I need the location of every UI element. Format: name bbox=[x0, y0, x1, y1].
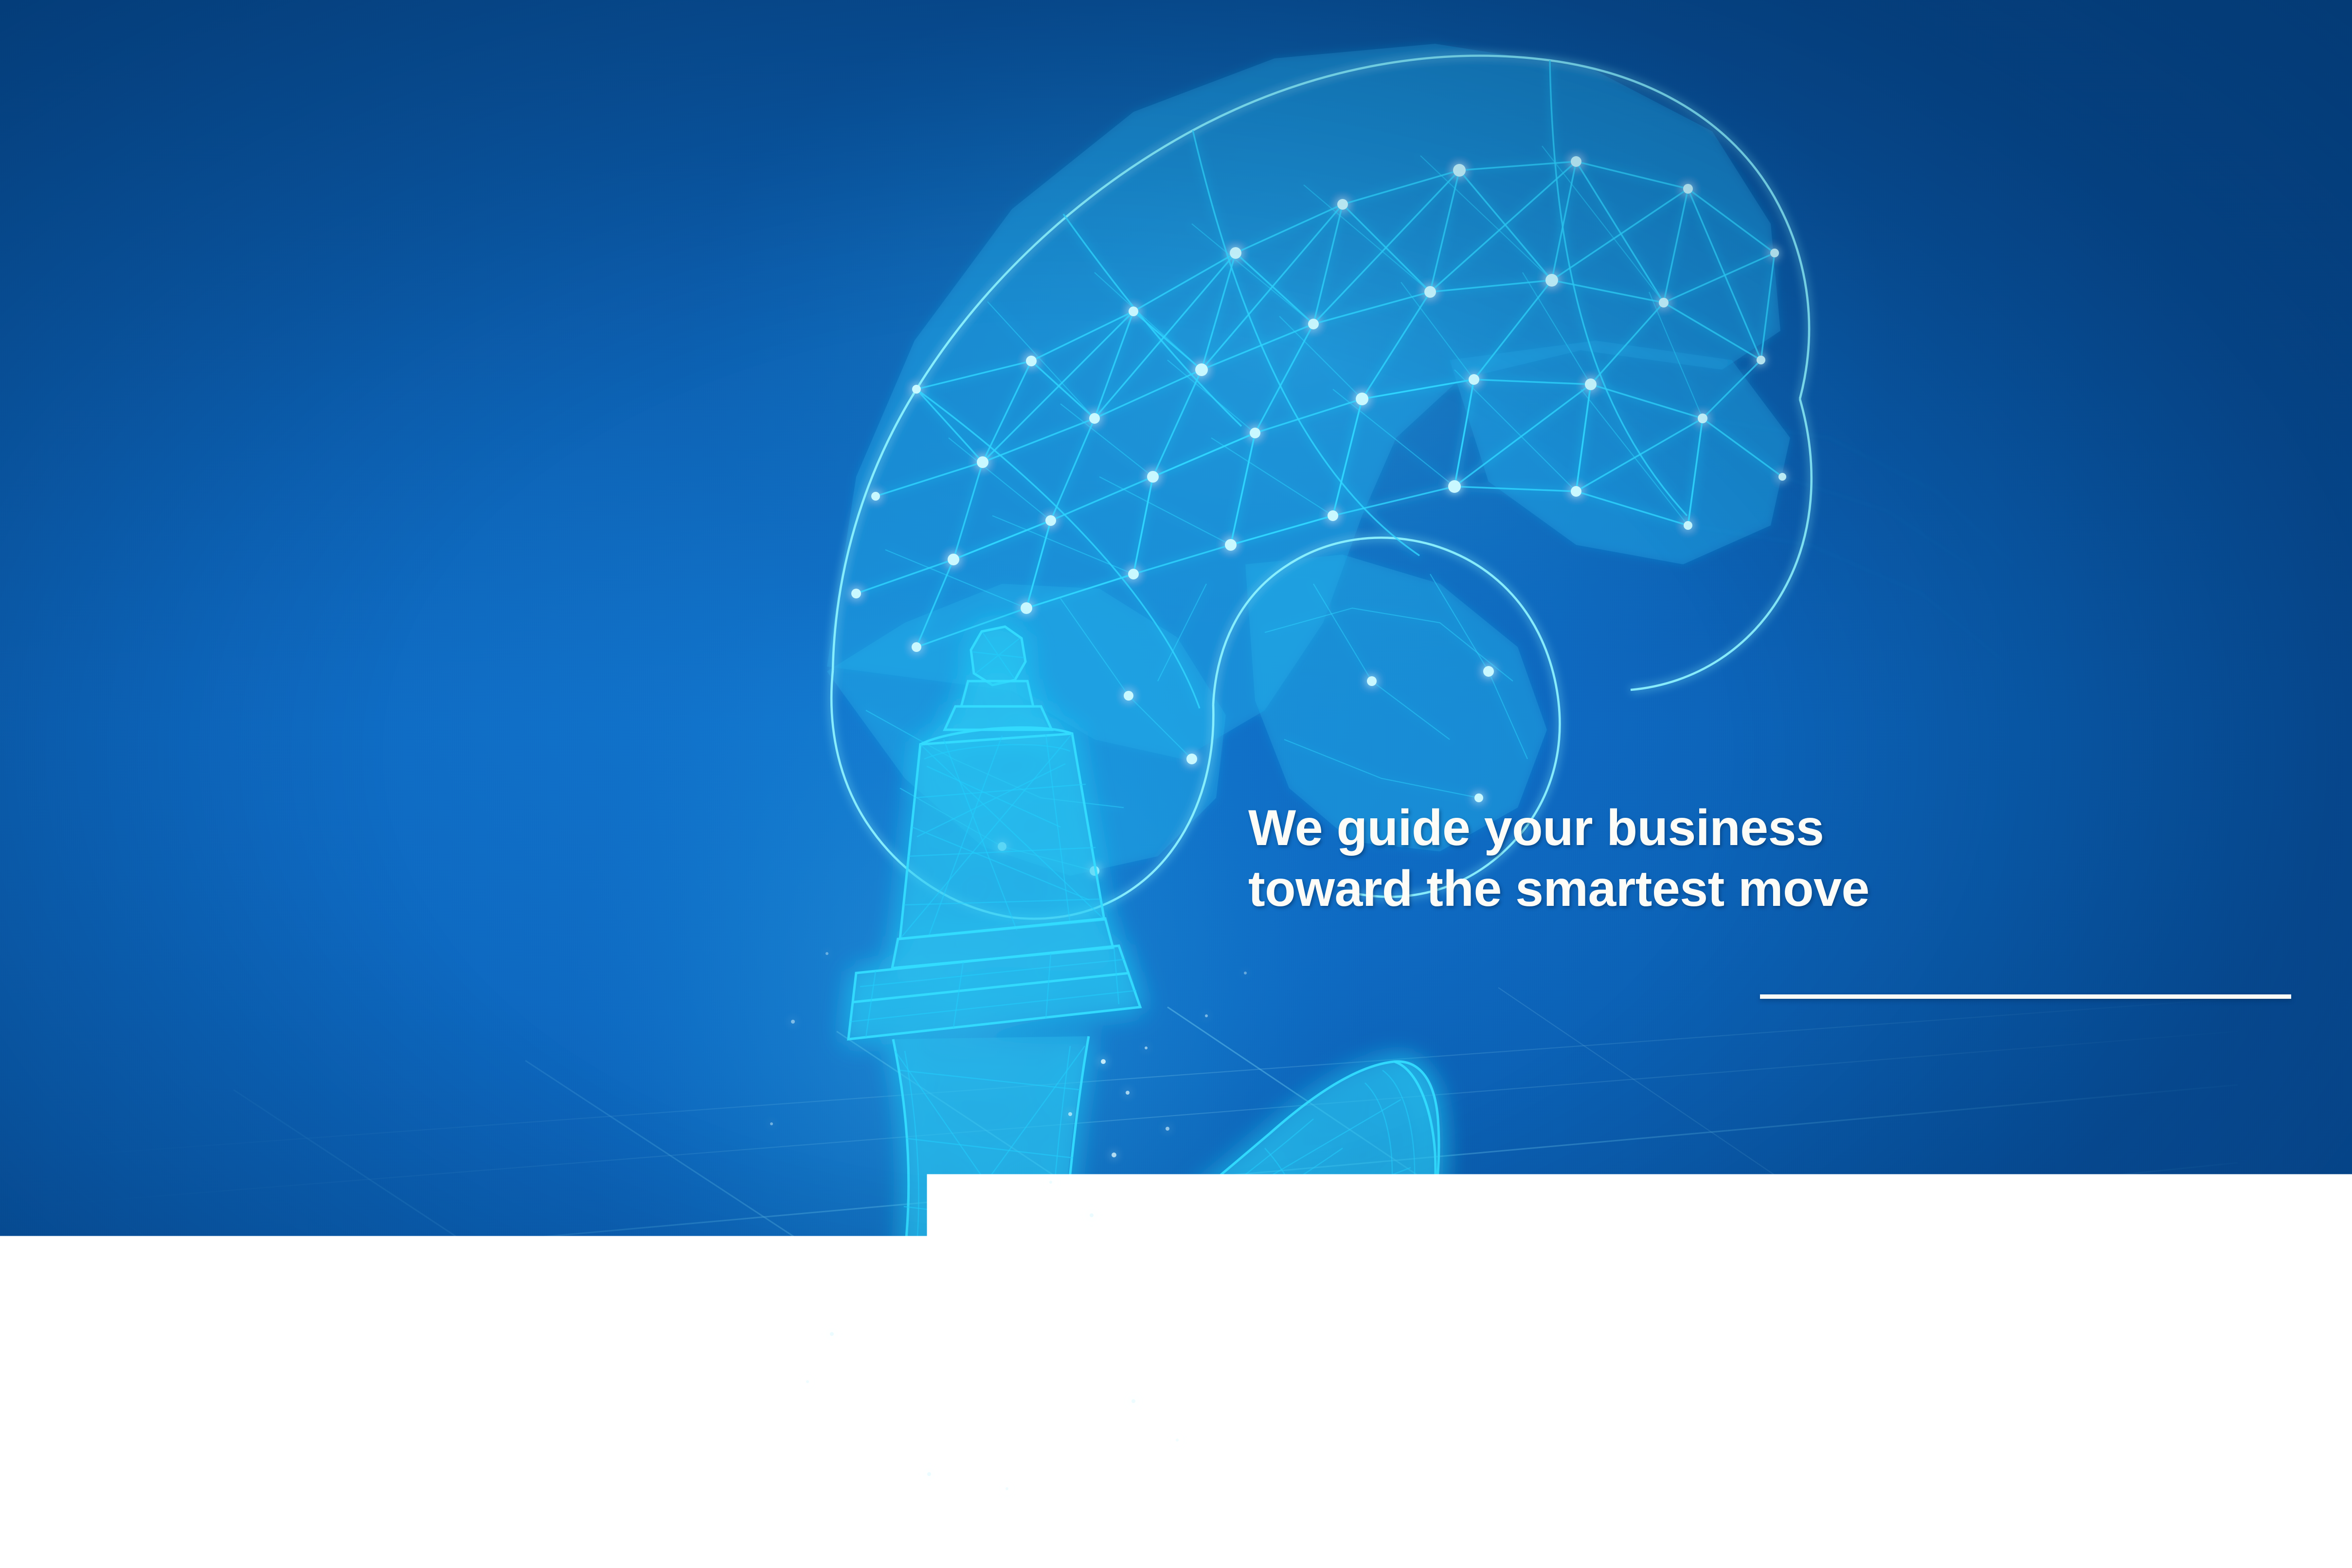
headline-underline-rule bbox=[1760, 994, 2291, 999]
headline-line-2: toward the smartest move bbox=[1248, 859, 2226, 919]
headline-line-1: We guide your business bbox=[1248, 798, 2226, 859]
hero-banner: .mesh { fill:none; stroke:#2fd6ff; strok… bbox=[0, 0, 2352, 1568]
impact-glow-core bbox=[880, 1328, 1056, 1474]
wireframe-artwork: .mesh { fill:none; stroke:#2fd6ff; strok… bbox=[0, 0, 2352, 1568]
headline-block: We guide your business toward the smarte… bbox=[1248, 798, 2226, 919]
